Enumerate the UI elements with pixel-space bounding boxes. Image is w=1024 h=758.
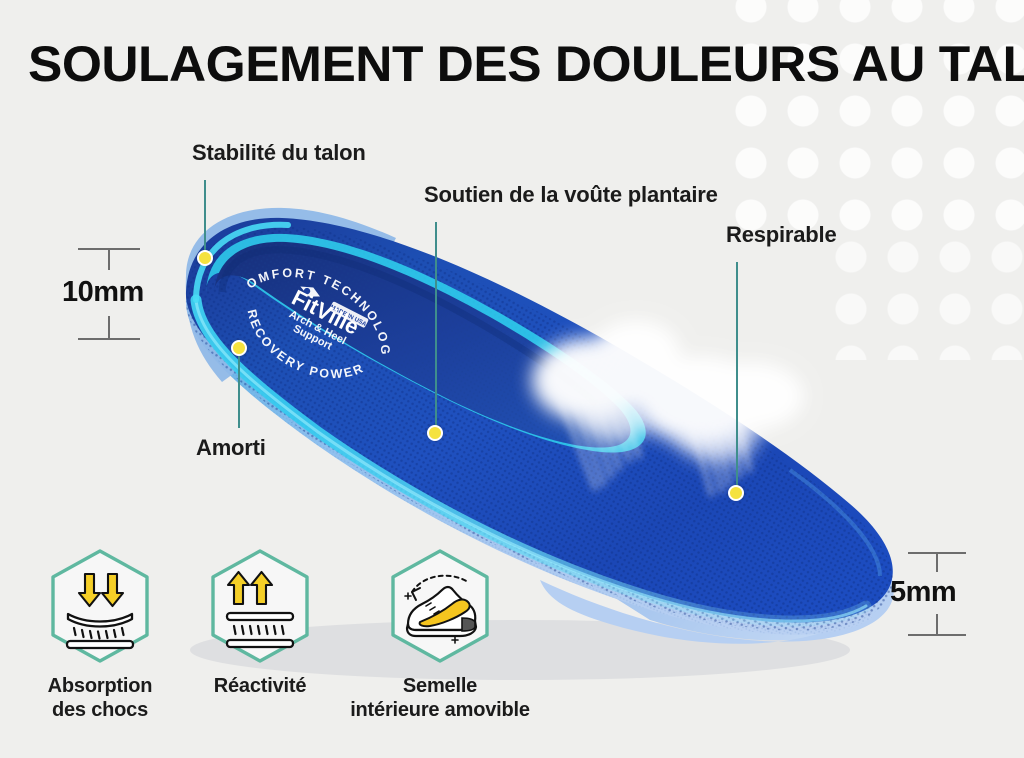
page-title: SOULAGEMENT DES DOULEURS AU TALON [28,35,1024,93]
callout-label-breathable: Respirable [726,222,837,248]
leader-line-arch-support [435,222,437,430]
marker-dot-cushioning [231,340,247,356]
responsiveness-icon-frame [206,548,314,664]
leader-line-breathable [736,262,738,490]
dimension-heel-value: 10mm [62,276,144,309]
dimension-toe-value: 5mm [890,576,956,609]
callout-label-heel-stability: Stabilité du talon [192,140,366,166]
feature-label-responsiveness: Réactivité [200,674,320,698]
shoe-removable-insole-icon [386,548,494,664]
removable-insole-icon-frame [386,548,494,664]
shock-absorption-icon-frame [46,548,154,664]
dimension-heel-thickness: 10mm [78,248,140,340]
leader-line-cushioning [238,352,240,428]
up-arrows-rebound-icon [206,548,314,664]
feature-label-removable-insole: Semelle intérieure amovible [340,674,540,723]
feature-label-shock-absorption: Absorption des chocs [40,674,160,723]
marker-dot-arch-support [427,425,443,441]
down-arrows-compression-icon [46,548,154,664]
feature-responsiveness: Réactivité [200,548,320,698]
callout-label-arch-support: Soutien de la voûte plantaire [424,182,718,208]
callout-label-cushioning: Amorti [196,435,266,461]
feature-removable-insole: Semelle intérieure amovible [340,548,540,723]
marker-dot-heel-stability [197,250,213,266]
marker-dot-breathable [728,485,744,501]
infographic-canvas: COMFORT TECHNOLOGY RECOVERY POWER MADE I… [0,0,1024,758]
leader-line-heel-stability [204,180,206,256]
dimension-toe-thickness: 5mm [908,552,966,636]
feature-shock-absorption: Absorption des chocs [40,548,160,723]
